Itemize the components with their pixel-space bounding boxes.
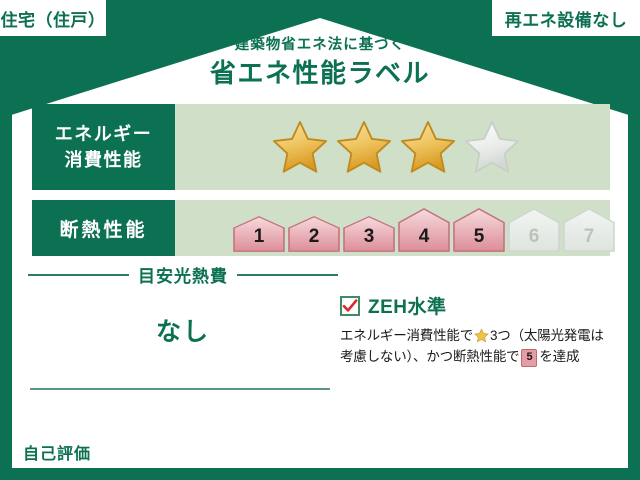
insulation-performance-row: 断熱性能 1234567 — [32, 200, 610, 256]
star-icon-filled — [399, 119, 457, 175]
check-icon — [342, 298, 358, 314]
insulation-grade-3: 3 — [343, 216, 395, 252]
zeh-title: ZEH水準 — [368, 292, 447, 319]
insulation-grade-6: 6 — [508, 208, 560, 252]
insulation-grade-2: 2 — [288, 216, 340, 252]
insulation-grade-1: 1 — [233, 216, 285, 252]
star-icon-filled — [335, 119, 393, 175]
zeh-description: エネルギー消費性能で3つ（太陽光発電は考慮しない）、かつ断熱性能で5を達成 — [340, 326, 612, 368]
star-rating — [271, 119, 521, 175]
utility-cost-heading: 目安光熱費 — [28, 262, 338, 287]
insulation-grade-5: 5 — [453, 208, 505, 252]
evaluation-date: 評価日 2025年10月29日 — [461, 435, 626, 456]
insulation-performance-value: 1234567 — [175, 200, 615, 256]
utility-cost-heading-label: 目安光熱費 — [138, 262, 228, 287]
energy-key-line2: 消費性能 — [65, 147, 143, 173]
insulation-grade-label: 1 — [254, 226, 265, 248]
building-type-badge: 住宅（住戸） — [0, 0, 106, 36]
footer-left: 自己評価 白河市久田野第14(1棟)1号棟27364300100 — [16, 437, 344, 468]
energy-performance-row: エネルギー 消費性能 — [32, 104, 610, 190]
insulation-grade-7: 7 — [563, 208, 615, 252]
insulation-grade-label: 3 — [364, 226, 375, 248]
energy-key-line1: エネルギー — [55, 121, 153, 147]
rule-left — [28, 274, 129, 276]
renewable-energy-badge: 再エネ設備なし — [492, 0, 640, 36]
insulation-grade-label: 2 — [309, 226, 320, 248]
energy-performance-value — [175, 104, 610, 190]
self-evaluation-badge: 自己評価 — [16, 437, 98, 468]
insulation-performance-label-key: 断熱性能 — [32, 200, 175, 256]
insulation-grade-label: 7 — [584, 226, 595, 248]
section-divider — [30, 388, 330, 390]
star-icon — [474, 328, 489, 343]
zeh-heading: ZEH水準 — [340, 292, 612, 319]
zeh-checkbox — [340, 296, 360, 316]
insulation-grade-label: 5 — [474, 226, 485, 248]
zeh-grade-badge: 5 — [521, 349, 537, 367]
insulation-grade-label: 6 — [529, 226, 540, 248]
utility-cost-value: なし — [28, 312, 338, 348]
zeh-section: ZEH水準 エネルギー消費性能で3つ（太陽光発電は考慮しない）、かつ断熱性能で5… — [340, 292, 612, 368]
rule-right — [237, 274, 338, 276]
footer-right: 評価日 2025年10月29日 232111f6-13cd-4884 — [461, 435, 626, 470]
star-icon-filled — [271, 119, 329, 175]
evaluation-id: 232111f6-13cd-4884 — [461, 458, 626, 470]
insulation-grade-4: 4 — [398, 208, 450, 252]
energy-performance-label-key: エネルギー 消費性能 — [32, 104, 175, 190]
star-icon-empty — [463, 119, 521, 175]
insulation-grade-scale: 1234567 — [233, 200, 615, 256]
insulation-grade-label: 4 — [419, 226, 430, 248]
zeh-desc-part3: を達成 — [539, 349, 579, 364]
zeh-desc-part1: エネルギー消費性能で — [340, 328, 473, 343]
property-address: 白河市久田野第14(1棟)1号棟27364300100 — [106, 443, 344, 462]
energy-performance-label: 住宅（住戸） 再エネ設備なし 建築物省エネ法に基づく 省エネ性能ラベル エネルギ… — [0, 0, 640, 480]
